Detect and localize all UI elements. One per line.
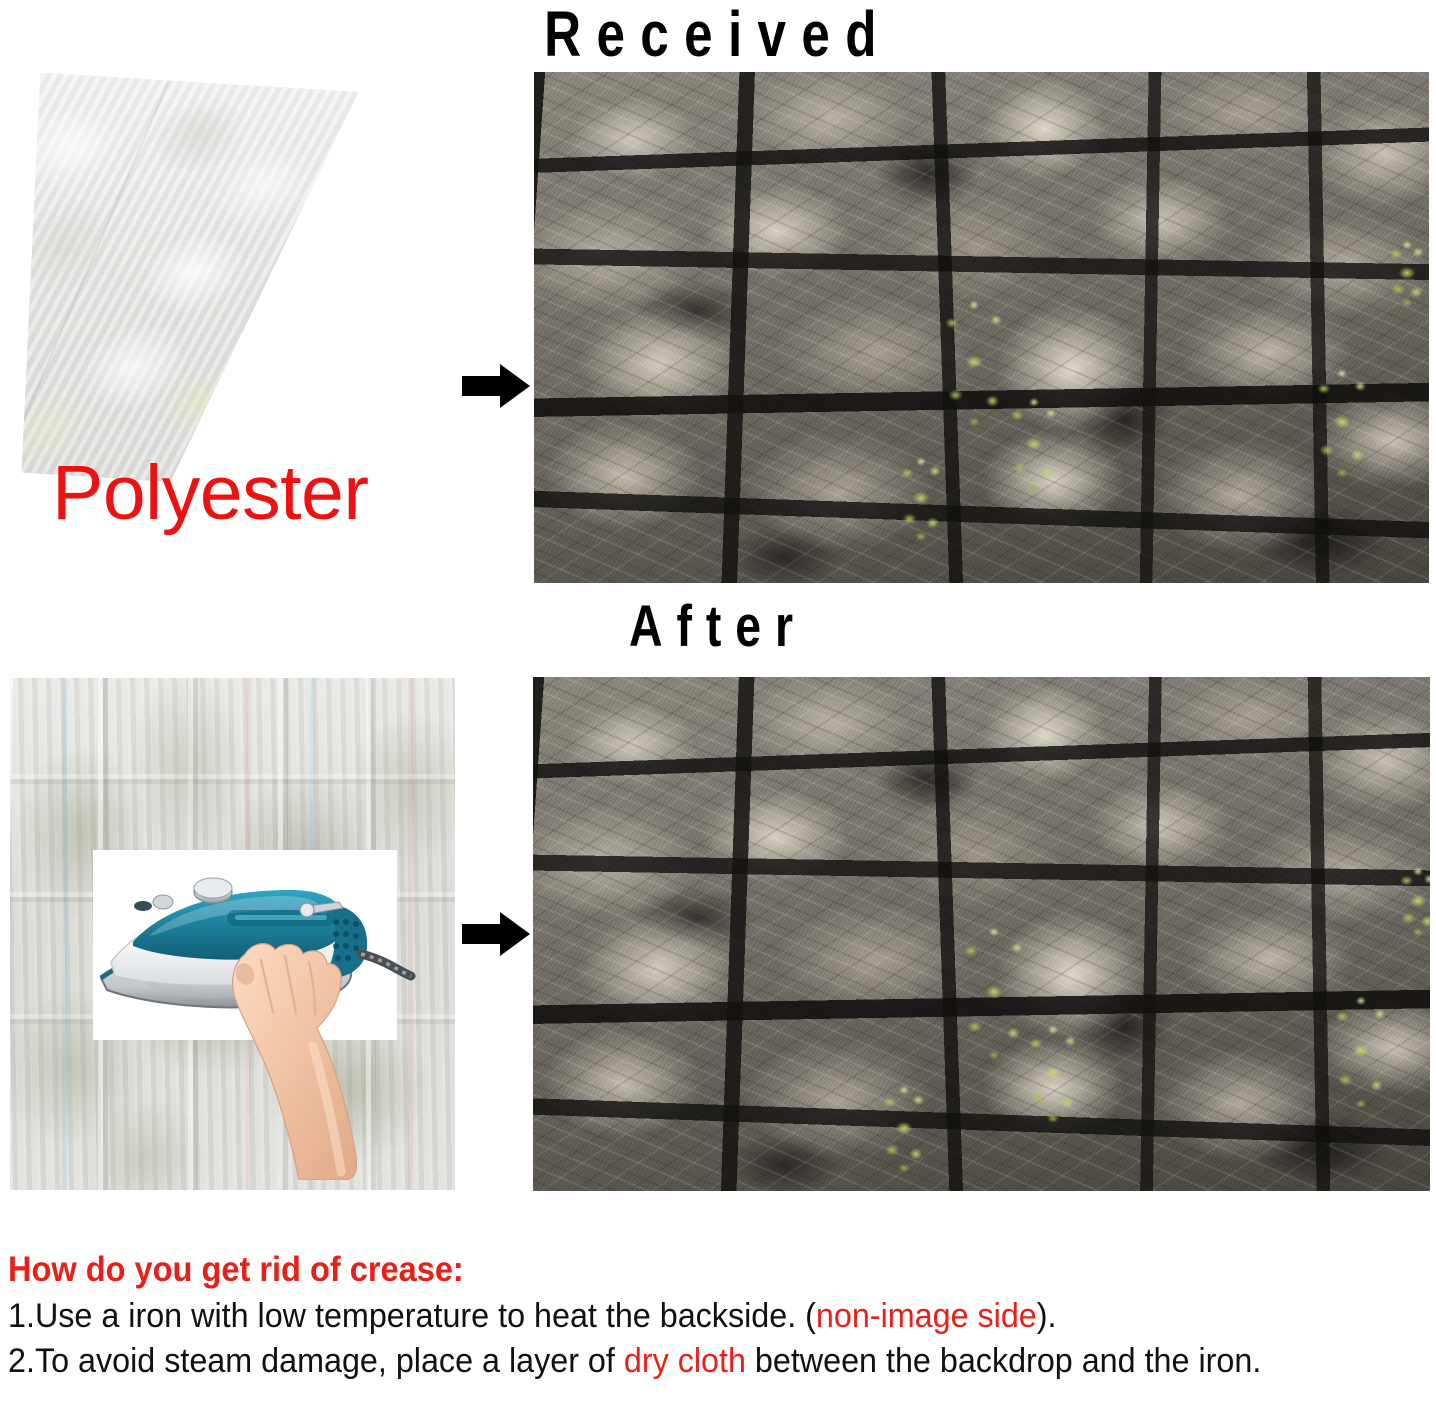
received-backdrop-photo xyxy=(534,72,1429,583)
instruction-line-2-text-a: 2.To avoid steam damage, place a layer o… xyxy=(8,1342,624,1380)
instruction-line-2-text-b: between the backdrop and the iron. xyxy=(746,1342,1261,1380)
arrow-right-icon xyxy=(462,910,530,958)
rock-texture xyxy=(534,72,1429,583)
page-title-after: After xyxy=(144,598,1293,656)
instruction-line-1-highlight: non-image side xyxy=(816,1297,1037,1335)
instruction-line-1-text-a: 1.Use a iron with low temperature to hea… xyxy=(8,1297,816,1335)
folded-fabric-image xyxy=(0,72,361,484)
rock-texture xyxy=(533,677,1430,1191)
page-title-received: Received xyxy=(144,2,1293,66)
instruction-line-2-highlight: dry cloth xyxy=(624,1342,746,1380)
instructions-heading: How do you get rid of crease: xyxy=(8,1252,1332,1288)
arrow-right-icon xyxy=(462,362,530,410)
material-label-polyester: Polyester xyxy=(52,455,368,532)
iron-photo-panel xyxy=(93,850,397,1040)
instructions-block: How do you get rid of crease: 1.Use a ir… xyxy=(8,1252,1432,1383)
instruction-line-1: 1.Use a iron with low temperature to hea… xyxy=(8,1294,1361,1338)
after-backdrop-photo xyxy=(533,677,1430,1191)
instruction-line-1-text-b: ). xyxy=(1037,1297,1057,1335)
instruction-line-2: 2.To avoid steam damage, place a layer o… xyxy=(8,1339,1361,1383)
